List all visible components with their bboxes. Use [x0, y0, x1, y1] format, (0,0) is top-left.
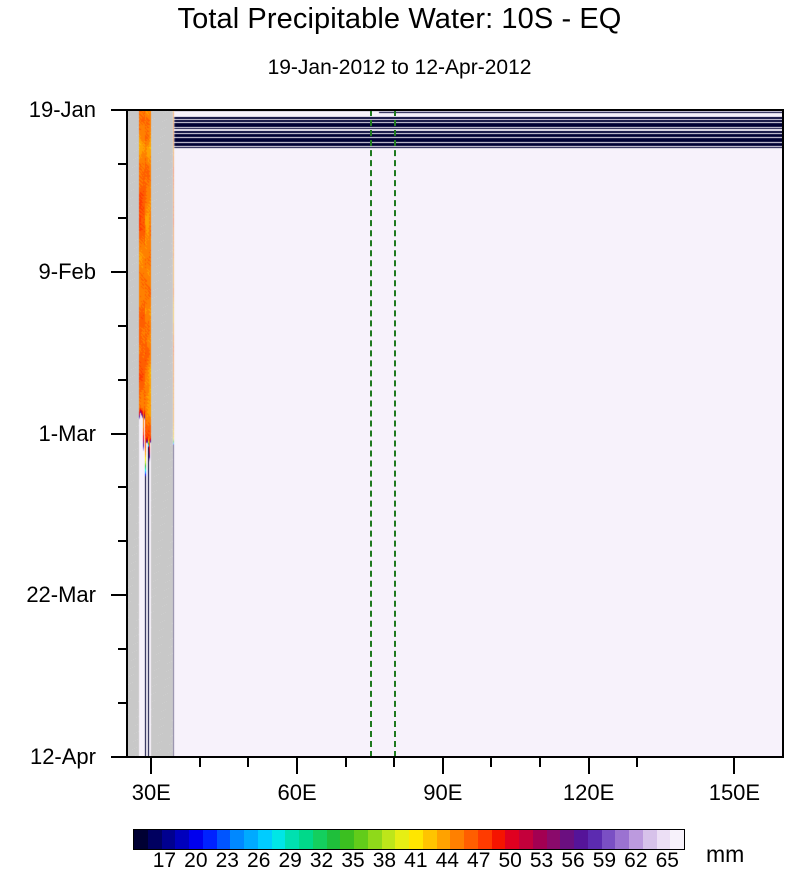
- x-axis-minor-tick: [539, 757, 541, 767]
- colorbar-cell: [217, 830, 231, 849]
- y-axis-minor-tick: [118, 648, 127, 650]
- x-axis-minor-tick: [345, 757, 347, 767]
- y-axis-major-tick: [111, 109, 127, 111]
- y-axis-label: 22-Mar: [26, 584, 96, 606]
- colorbar-tick-label: 59: [593, 850, 616, 871]
- y-axis-label: 12-Apr: [30, 746, 96, 768]
- colorbar-cell: [478, 830, 492, 849]
- y-axis-major-tick: [111, 756, 127, 758]
- colorbar-cell: [423, 830, 437, 849]
- hovmoller-heatmap: [127, 110, 783, 757]
- colorbar-cell: [244, 830, 258, 849]
- colorbar-tick-label: 53: [530, 850, 553, 871]
- colorbar-cell: [382, 830, 396, 849]
- y-axis-minor-tick: [118, 163, 127, 165]
- x-axis-label: 30E: [132, 782, 171, 804]
- colorbar-tick-label: 23: [216, 850, 239, 871]
- y-axis-minor-tick: [118, 702, 127, 704]
- x-axis-major-tick: [296, 757, 298, 774]
- colorbar-unit: mm: [706, 843, 744, 866]
- colorbar-cell: [327, 830, 341, 849]
- colorbar-cell: [670, 830, 684, 849]
- y-axis-minor-tick: [118, 379, 127, 381]
- colorbar-cell: [368, 830, 382, 849]
- colorbar-cell: [643, 830, 657, 849]
- colorbar-cell: [588, 830, 602, 849]
- colorbar-cell: [134, 830, 148, 849]
- colorbar-cell: [533, 830, 547, 849]
- x-axis-label: 60E: [277, 782, 316, 804]
- colorbar-tick-label: 32: [310, 850, 333, 871]
- colorbar-cell: [657, 830, 671, 849]
- x-axis-major-tick: [733, 757, 735, 774]
- x-axis-major-tick: [442, 757, 444, 774]
- colorbar-tick-label: 20: [184, 850, 207, 871]
- chart-title: Total Precipitable Water: 10S - EQ: [0, 2, 799, 36]
- colorbar-cell: [175, 830, 189, 849]
- x-axis-minor-tick: [393, 757, 395, 767]
- x-axis-minor-tick: [247, 757, 249, 767]
- y-axis-major-tick: [111, 433, 127, 435]
- colorbar-tick-label: 47: [467, 850, 490, 871]
- y-axis-minor-tick: [118, 325, 127, 327]
- colorbar-tick-label: 50: [498, 850, 521, 871]
- x-axis-minor-tick: [636, 757, 638, 767]
- colorbar: [133, 829, 685, 850]
- x-axis-label: 120E: [563, 782, 614, 804]
- colorbar-cell: [519, 830, 533, 849]
- colorbar-cell: [395, 830, 409, 849]
- colorbar-tick-label: 38: [373, 850, 396, 871]
- colorbar-cell: [505, 830, 519, 849]
- colorbar-cell: [340, 830, 354, 849]
- x-axis-major-tick: [150, 757, 152, 774]
- x-axis-label: 150E: [709, 782, 760, 804]
- colorbar-cell: [547, 830, 561, 849]
- colorbar-cell: [148, 830, 162, 849]
- colorbar-tick-label: 35: [341, 850, 364, 871]
- x-axis-major-tick: [588, 757, 590, 774]
- x-axis-label: 90E: [423, 782, 462, 804]
- colorbar-cell: [464, 830, 478, 849]
- colorbar-tick-label: 17: [153, 850, 176, 871]
- colorbar-cell: [189, 830, 203, 849]
- colorbar-tick-label: 29: [278, 850, 301, 871]
- colorbar-tick-label: 65: [656, 850, 679, 871]
- y-axis-major-tick: [111, 271, 127, 273]
- chart-subtitle: 19-Jan-2012 to 12-Apr-2012: [0, 56, 799, 80]
- colorbar-cell: [574, 830, 588, 849]
- colorbar-cell: [450, 830, 464, 849]
- colorbar-cell: [629, 830, 643, 849]
- colorbar-tick-label: 56: [561, 850, 584, 871]
- y-axis-label: 19-Jan: [29, 99, 96, 121]
- y-axis-minor-tick: [118, 486, 127, 488]
- x-axis-minor-tick: [199, 757, 201, 767]
- y-axis-label: 9-Feb: [39, 261, 96, 283]
- colorbar-tick-label: 44: [436, 850, 459, 871]
- colorbar-cell: [437, 830, 451, 849]
- y-axis-label: 1-Mar: [39, 423, 96, 445]
- y-axis-minor-tick: [118, 540, 127, 542]
- colorbar-cell: [409, 830, 423, 849]
- colorbar-cell: [492, 830, 506, 849]
- colorbar-cell: [313, 830, 327, 849]
- colorbar-cell: [285, 830, 299, 849]
- colorbar-tick-label: 41: [404, 850, 427, 871]
- colorbar-cell: [615, 830, 629, 849]
- y-axis-minor-tick: [118, 217, 127, 219]
- plot-area: [127, 110, 783, 757]
- colorbar-cell: [560, 830, 574, 849]
- colorbar-cell: [272, 830, 286, 849]
- colorbar-cell: [203, 830, 217, 849]
- colorbar-cell: [602, 830, 616, 849]
- y-axis-major-tick: [111, 594, 127, 596]
- colorbar-cell: [354, 830, 368, 849]
- colorbar-cell: [162, 830, 176, 849]
- colorbar-cell: [299, 830, 313, 849]
- colorbar-tick-label: 26: [247, 850, 270, 871]
- colorbar-cell: [230, 830, 244, 849]
- x-axis-minor-tick: [490, 757, 492, 767]
- chart-canvas: Total Precipitable Water: 10S - EQ 19-Ja…: [0, 0, 799, 872]
- colorbar-cell: [258, 830, 272, 849]
- colorbar-tick-label: 62: [624, 850, 647, 871]
